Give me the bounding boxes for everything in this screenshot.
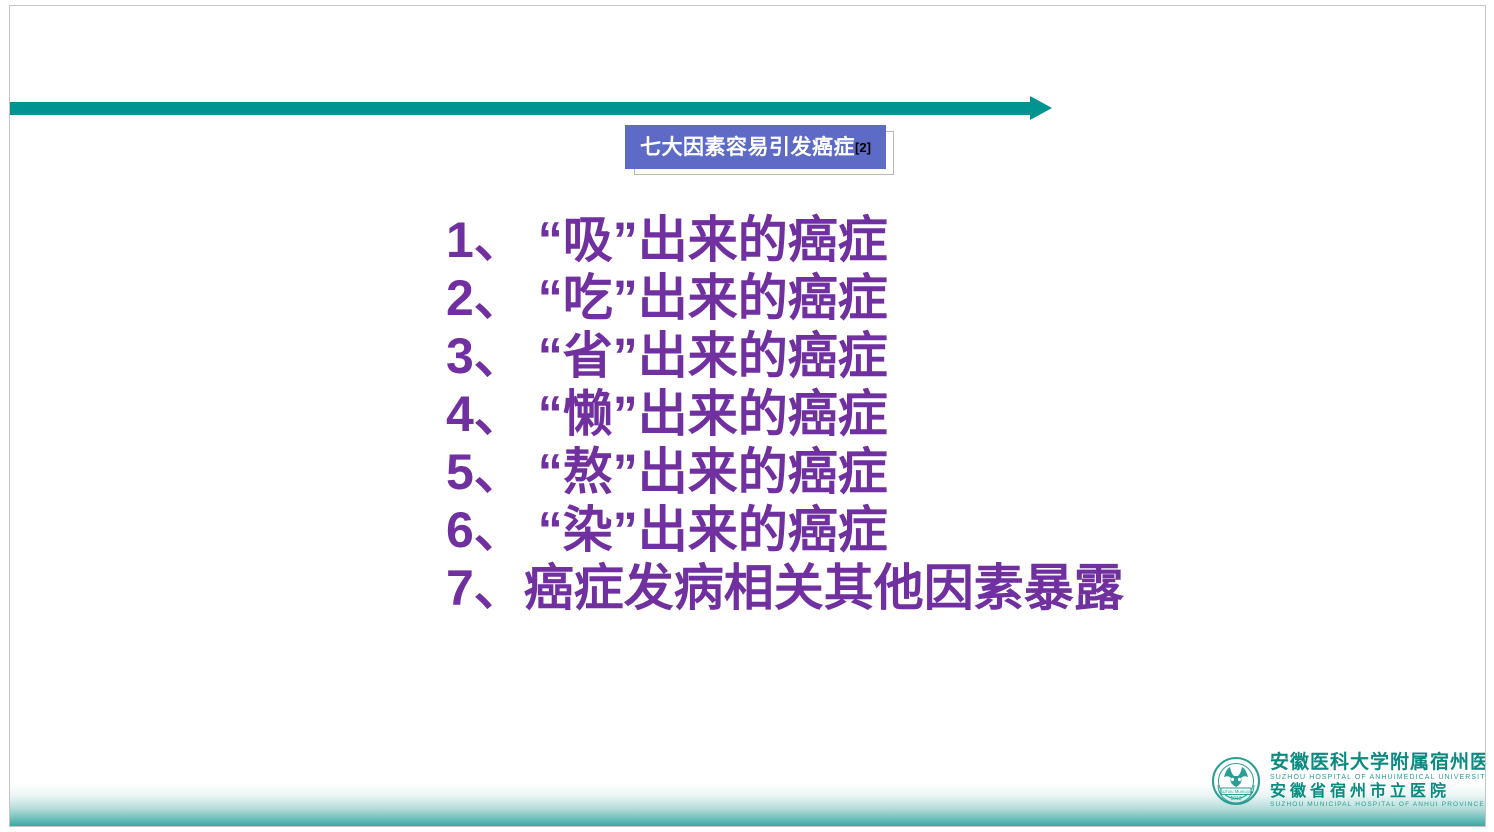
hospital-name-english-secondary: SUZHOU MUNICIPAL HOSPITAL OF ANHUI PROVI… bbox=[1270, 801, 1486, 809]
section-title-chip: 七大因素容易引发癌症[2] bbox=[625, 125, 886, 169]
list-item: 3、 “省”出来的癌症 bbox=[446, 327, 1446, 385]
arrow-head-icon bbox=[1030, 96, 1052, 120]
arrow-shaft bbox=[10, 102, 1032, 115]
hospital-name-chinese-secondary: 安徽省宿州市立医院 bbox=[1270, 782, 1486, 801]
list-item: 4、 “懒”出来的癌症 bbox=[446, 385, 1446, 443]
hospital-emblem-icon: Suzhou Municipal 1913 bbox=[1210, 755, 1262, 807]
svg-text:Suzhou Municipal: Suzhou Municipal bbox=[1219, 789, 1254, 794]
list-item: 6、 “染”出来的癌症 bbox=[446, 501, 1446, 559]
section-title-text: 七大因素容易引发癌症 bbox=[640, 137, 855, 158]
emblem-year-text: 1913 bbox=[1230, 796, 1241, 802]
hospital-logo: Suzhou Municipal 1913 安徽医科大学附属宿州医院 SUZHO… bbox=[1210, 750, 1478, 812]
list-item: 1、 “吸”出来的癌症 bbox=[446, 211, 1446, 269]
hospital-logo-text: 安徽医科大学附属宿州医院 SUZHOU HOSPITAL OF ANHUIMED… bbox=[1270, 753, 1486, 810]
cancer-factor-list: 1、 “吸”出来的癌症 2、 “吃”出来的癌症 3、 “省”出来的癌症 4、 “… bbox=[446, 211, 1446, 617]
list-item: 5、 “熬”出来的癌症 bbox=[446, 443, 1446, 501]
hospital-name-chinese-primary: 安徽医科大学附属宿州医院 bbox=[1270, 753, 1486, 773]
list-item: 2、 “吃”出来的癌症 bbox=[446, 269, 1446, 327]
section-title-group: 七大因素容易引发癌症[2] bbox=[625, 125, 901, 175]
section-title-reference: [2] bbox=[855, 140, 871, 155]
slide-canvas: 七大因素容易引发癌症[2] 1、 “吸”出来的癌症 2、 “吃”出来的癌症 3、… bbox=[9, 5, 1486, 827]
list-item: 7、癌症发病相关其他因素暴露 bbox=[446, 559, 1446, 617]
hospital-name-english-primary: SUZHOU HOSPITAL OF ANHUIMEDICAL UNIVERSI… bbox=[1270, 773, 1486, 782]
teal-arrow-rule bbox=[10, 96, 1055, 120]
